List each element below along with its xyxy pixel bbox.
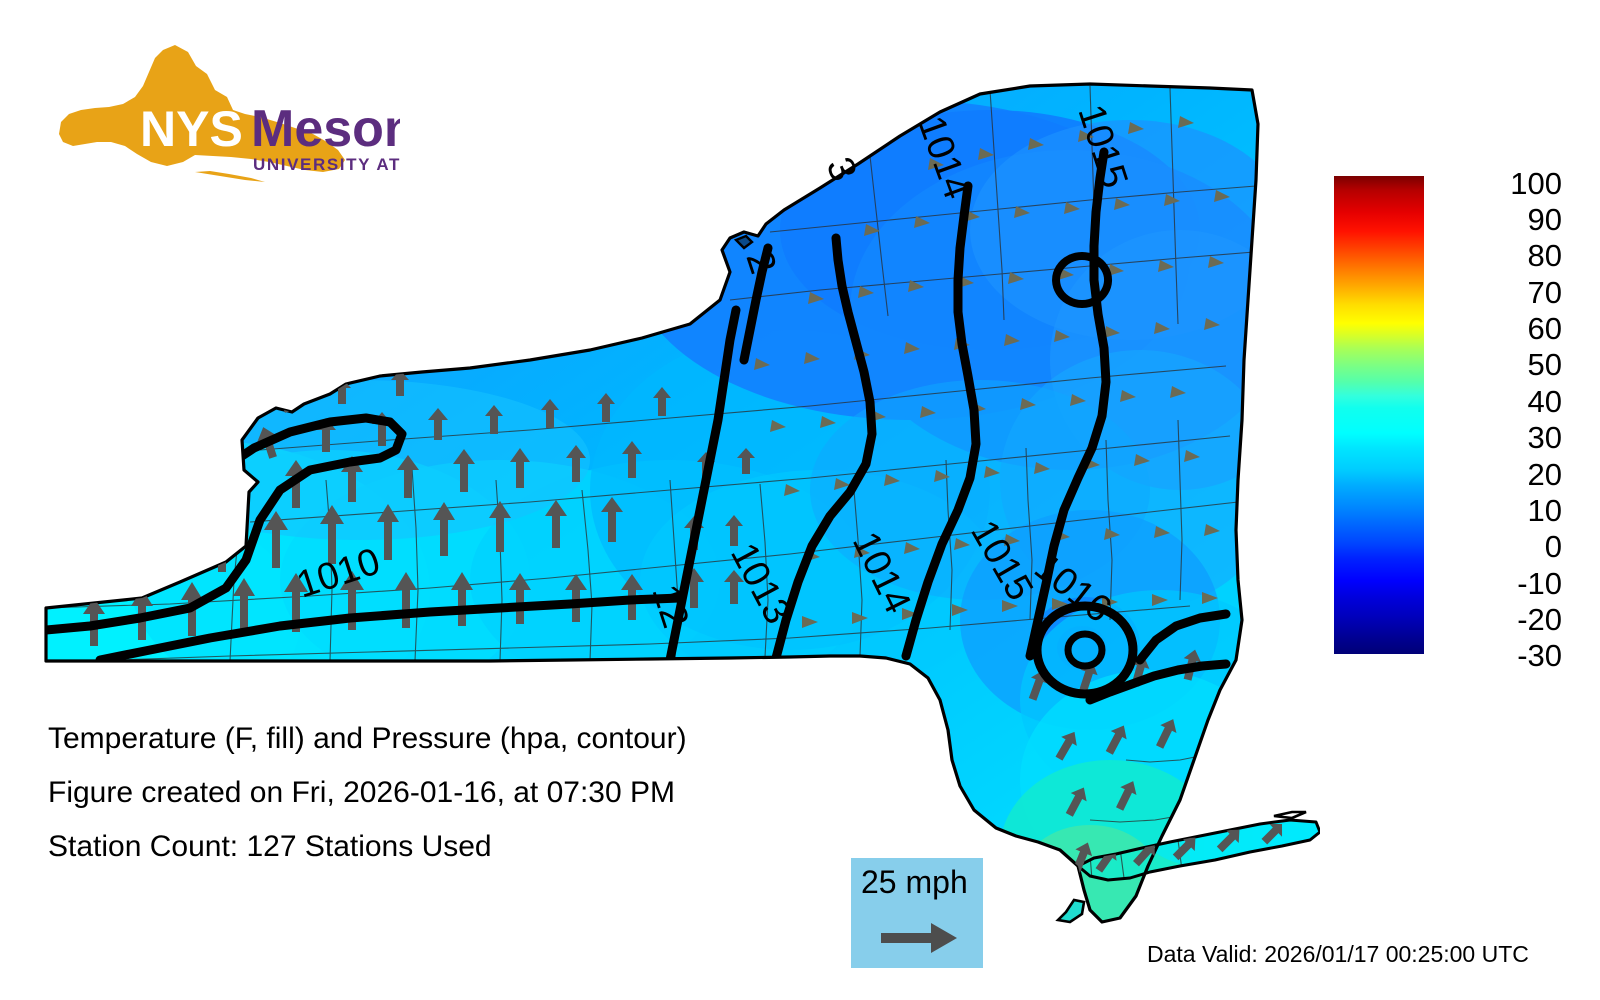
colorbar-tick-20: 20 bbox=[1430, 459, 1562, 490]
caption-title-line: Temperature (F, fill) and Pressure (hpa,… bbox=[48, 712, 808, 766]
colorbar-tick-90: 90 bbox=[1430, 204, 1562, 235]
colorbar-tick-30: 30 bbox=[1430, 422, 1562, 453]
colorbar-tick-70: 70 bbox=[1430, 277, 1562, 308]
colorbar-tick-60: 60 bbox=[1430, 313, 1562, 344]
colorbar-tick-neg10: -10 bbox=[1430, 568, 1562, 599]
colorbar-tick-80: 80 bbox=[1430, 240, 1562, 271]
colorbar-tick-labels: 100 90 80 70 60 50 40 30 20 10 0 -10 -20… bbox=[1430, 176, 1570, 654]
caption-created-line: Figure created on Fri, 2026-01-16, at 07… bbox=[48, 766, 808, 820]
weather-figure: NYS Mesonet UNIVERSITY AT ALBANY bbox=[0, 0, 1600, 1000]
colorbar-tick-neg20: -20 bbox=[1430, 604, 1562, 635]
colorbar-tick-50: 50 bbox=[1430, 349, 1562, 380]
colorbar-gradient bbox=[1334, 176, 1424, 654]
colorbar-tick-0: 0 bbox=[1430, 531, 1562, 562]
colorbar-tick-10: 10 bbox=[1430, 495, 1562, 526]
colorbar-tick-100: 100 bbox=[1430, 168, 1562, 199]
temperature-colorbar: 100 90 80 70 60 50 40 30 20 10 0 -10 -20… bbox=[1334, 176, 1584, 676]
wind-speed-legend: 25 mph bbox=[851, 858, 983, 968]
colorbar-tick-40: 40 bbox=[1430, 386, 1562, 417]
colorbar-tick-neg30: -30 bbox=[1430, 640, 1562, 671]
caption-station-count-line: Station Count: 127 Stations Used bbox=[48, 820, 808, 874]
figure-caption: Temperature (F, fill) and Pressure (hpa,… bbox=[48, 712, 808, 874]
wind-reference-arrow-icon bbox=[881, 920, 959, 956]
data-valid-timestamp: Data Valid: 2026/01/17 00:25:00 UTC bbox=[1147, 941, 1529, 967]
wind-legend-label: 25 mph bbox=[861, 862, 968, 902]
